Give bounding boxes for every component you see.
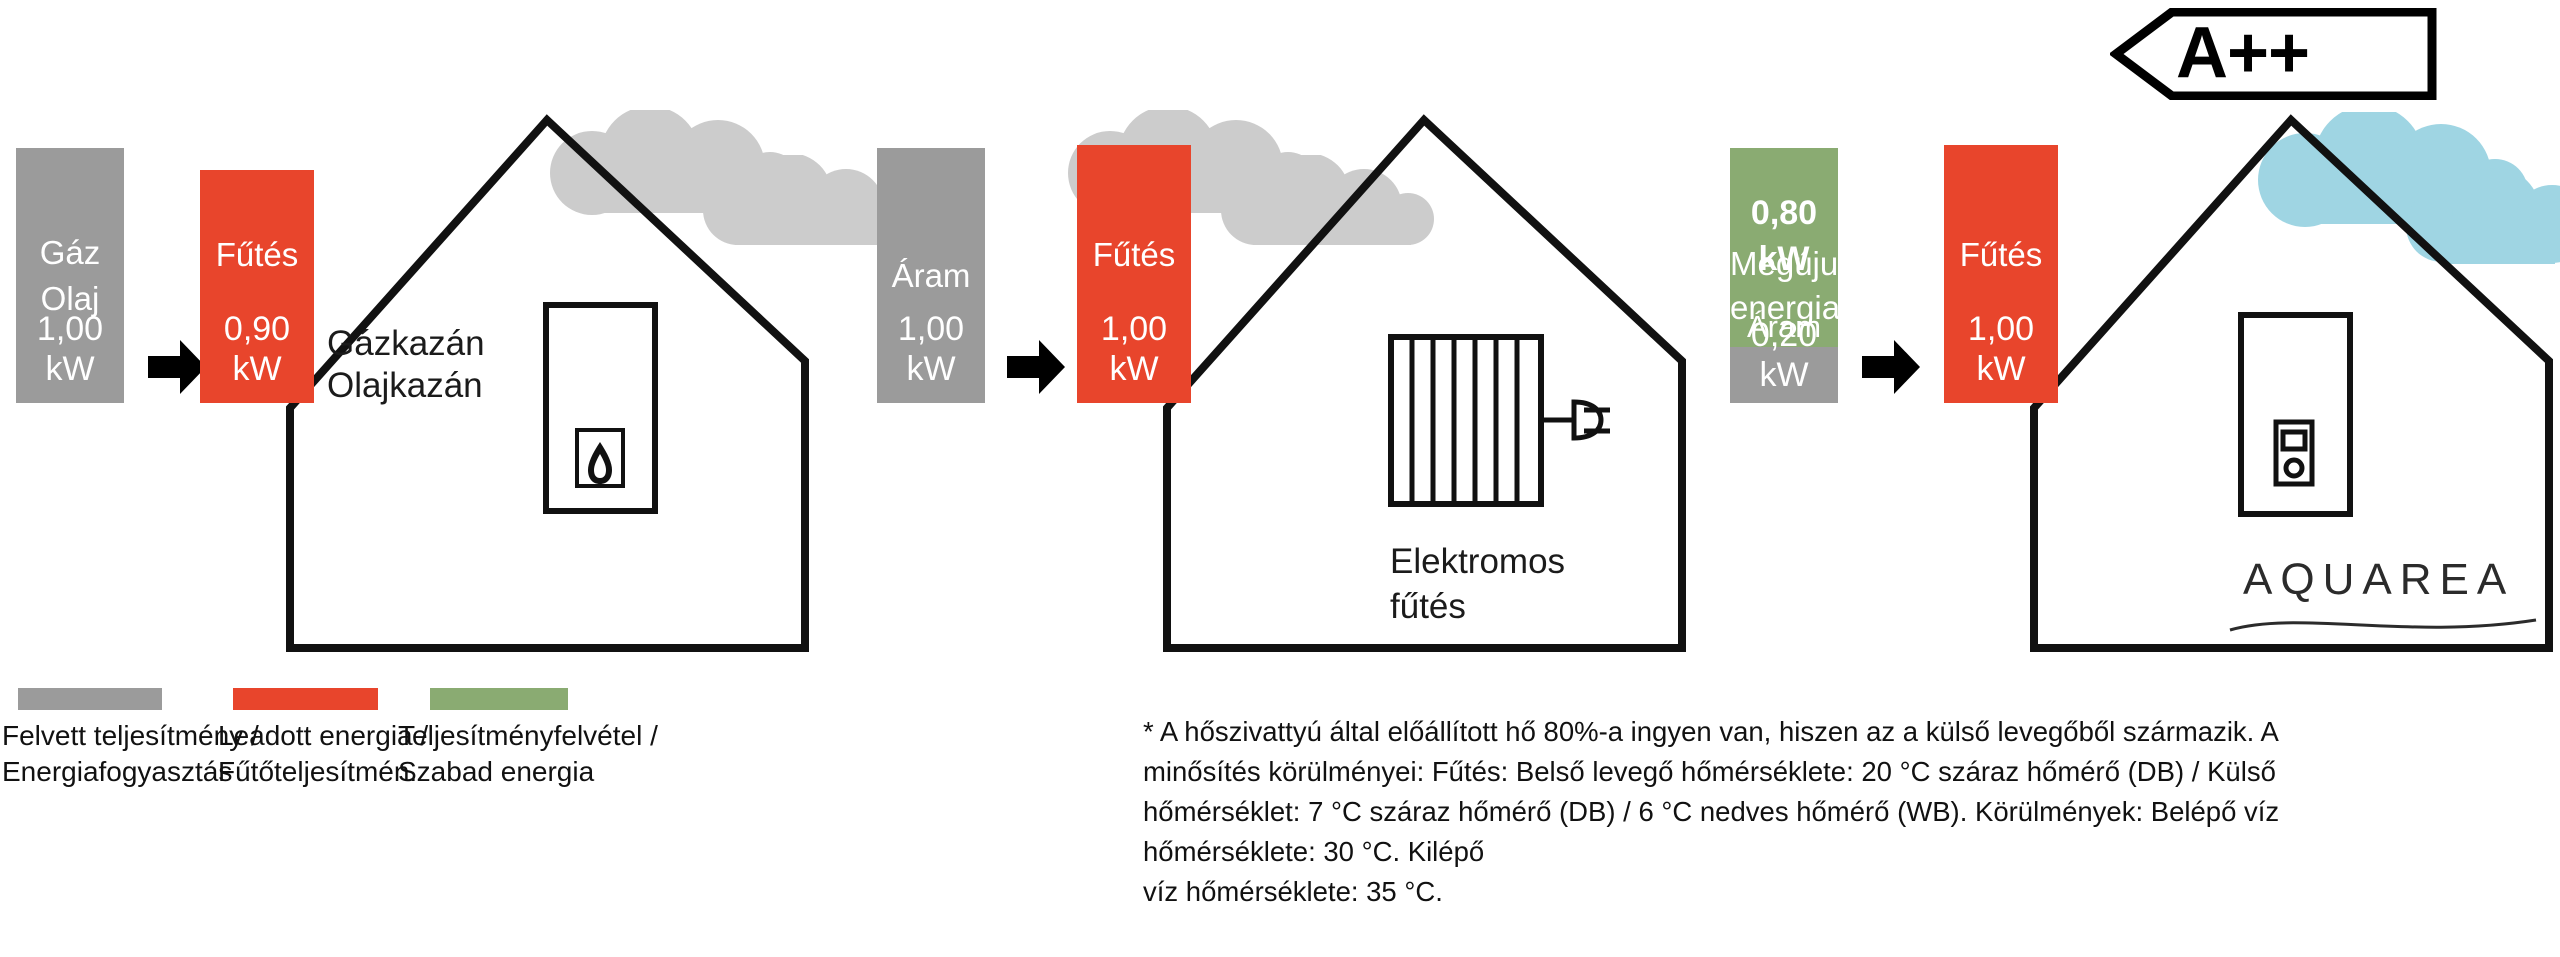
renewable-line-1: Megújuló xyxy=(1730,242,1838,286)
energy-class-label: A++ xyxy=(2176,12,2309,94)
input-bar-electric: Áram 1,00 kW xyxy=(877,148,985,403)
arrow-right-icon xyxy=(1005,338,1067,396)
legend-label-1-line-2: Fűtőteljesítmén. xyxy=(218,754,417,790)
arrow-right-icon xyxy=(1860,338,1922,396)
appliance-caption-electric-line-1: Elektromos xyxy=(1390,538,1565,585)
output-bar-heatpump: Fűtés 1,00 kW xyxy=(1944,145,2058,403)
output-bar-label: Fűtés xyxy=(1077,232,1191,278)
legend-label-2-line-1: Teljesítményfelvétel / xyxy=(398,718,658,754)
output-bar-value: 1,00 kW xyxy=(1944,309,2058,389)
heat-pump-unit-icon xyxy=(2238,312,2353,517)
output-bar-value: 1,00 kW xyxy=(1077,309,1191,389)
footnote-line-3: hőmérséklet: 7 °C száraz hőmérő (DB) / 6… xyxy=(1143,792,2553,832)
output-bar-electric: Fűtés 1,00 kW xyxy=(1077,145,1191,403)
appliance-caption-electric-line-2: fűtés xyxy=(1390,583,1466,630)
output-bar-value: 0,90 kW xyxy=(200,309,314,389)
input-bar-line-1: Áram xyxy=(877,253,985,299)
output-bar-label: Fűtés xyxy=(1944,232,2058,278)
appliance-caption-gas-line-2: Olajkazán xyxy=(327,362,483,409)
input-bar-value: 1,00 kW xyxy=(877,309,985,389)
footnote-line-1: * A hőszivattyú által előállított hő 80%… xyxy=(1143,712,2553,752)
legend-label-1-line-1: Leadott energia / xyxy=(218,718,428,754)
aquarea-brand-text: AQUAREA xyxy=(2243,555,2514,605)
footnote-line-2: minősítés körülményei: Fűtés: Belső leve… xyxy=(1143,752,2553,792)
output-bar-label: Fűtés xyxy=(200,232,314,278)
electric-radiator-icon xyxy=(1388,334,1628,516)
legend-label-0-line-2: Energiafogyasztás xyxy=(2,754,232,790)
input-bar-gas-oil: Gáz Olaj 1,00 kW xyxy=(16,148,124,403)
electric-value: 0,20 kW xyxy=(1730,315,1838,395)
legend-swatch-0 xyxy=(18,688,162,710)
input-bar-value: 1,00 kW xyxy=(16,309,124,389)
input-bar-heatpump-electric: Áram 0,20 kW xyxy=(1730,347,1838,403)
arrow-right-icon xyxy=(146,338,208,396)
legend-swatch-1 xyxy=(233,688,378,710)
gas-boiler-icon xyxy=(543,302,658,514)
legend-label-2-line-2: Szabad energia xyxy=(398,754,594,790)
input-bar-line-1: Gáz xyxy=(16,230,124,276)
appliance-caption-gas-line-1: Gázkazán xyxy=(327,320,485,367)
legend-swatch-2 xyxy=(430,688,568,710)
infographic-canvas: A++ Gáz Olaj 1,00 kW xyxy=(0,0,2560,957)
aquarea-wave-icon xyxy=(2228,614,2538,640)
footnote-line-4: hőmérséklete: 30 °C. Kilépő xyxy=(1143,832,2553,872)
output-bar-gas-oil: Fűtés 0,90 kW xyxy=(200,170,314,403)
footnote-block: * A hőszivattyú által előállított hő 80%… xyxy=(1143,712,2553,912)
footnote-line-5: víz hőmérséklete: 35 °C. xyxy=(1143,872,2553,912)
